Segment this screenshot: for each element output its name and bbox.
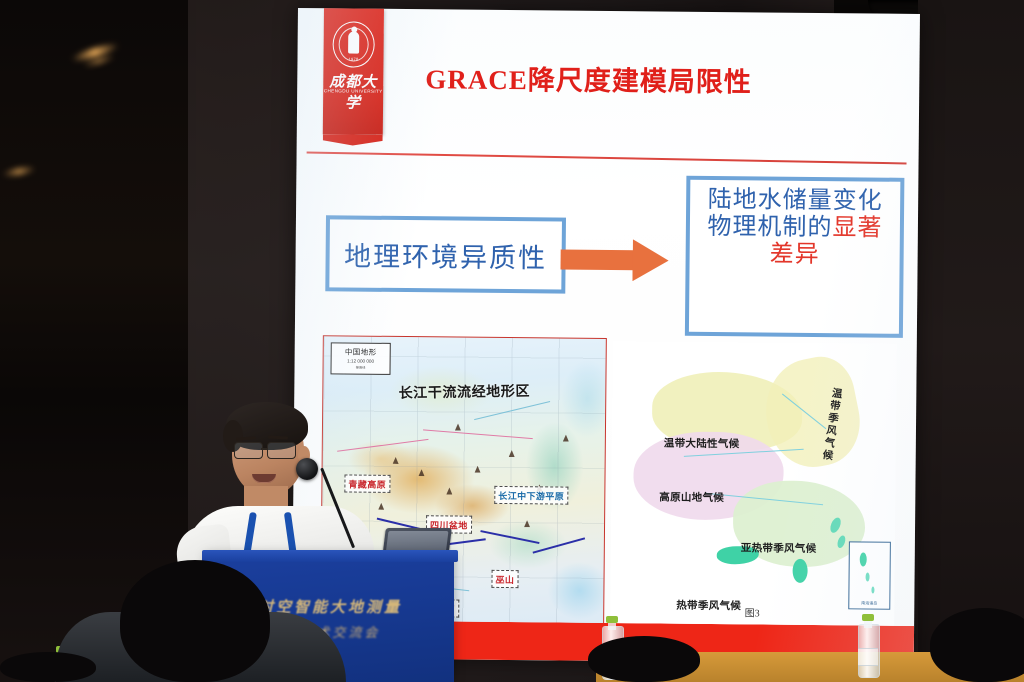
concept-right-line3: 差异 [690, 241, 900, 270]
terrain-map-title: 长江干流流经地形区 [398, 381, 530, 403]
concept-box-left-label: 地理环境异质性 [329, 219, 562, 289]
climate-map-china: 温带大陆性气候 高原山地气候 亚热带季风气候 热带季风气候 温带季风气候 南海诸… [610, 341, 897, 636]
presentation-photo: 1978 成都大学 CHENGDU UNIVERSITY GRACE降尺度建模局… [0, 0, 1024, 682]
flow-arrow-icon [560, 239, 668, 282]
map-legend-title: 中国地形 [332, 346, 390, 358]
concept-right-line2: 物理机制的显著 [690, 214, 900, 243]
south-china-sea-inset: 南海诸岛 [848, 541, 891, 609]
concept-box-right: 陆地水储量变化 物理机制的显著 差异 [685, 176, 905, 338]
concept-box-left: 地理环境异质性 [325, 215, 566, 293]
terrain-label-yangtze-plain: 长江中下游平原 [494, 486, 568, 505]
university-logo-ribbon: 1978 成都大学 CHENGDU UNIVERSITY [323, 8, 384, 135]
climate-label-subtropical-monsoon: 亚热带季风气候 [741, 540, 817, 556]
eyeglasses-icon [234, 442, 300, 458]
china-outline-group [624, 347, 878, 593]
title-divider [307, 151, 907, 164]
map-legend: 中国地形 1:12 000 000 等高线 [330, 342, 390, 375]
slide-title: GRACE降尺度建模局限性 [425, 57, 895, 101]
water-bottle [858, 614, 878, 676]
podium-top-edge [202, 550, 458, 562]
audience-head [588, 636, 700, 682]
climate-label-plateau-mountain: 高原山地气候 [659, 489, 724, 505]
audience-head [930, 608, 1024, 682]
audience-head [0, 652, 96, 682]
concept-right-line2-blue: 物理机制的 [707, 214, 832, 241]
terrain-label-wushan: 巫山 [491, 570, 518, 588]
seal-figure-icon [348, 31, 359, 53]
audience-head [120, 560, 270, 682]
university-seal-icon: 1978 [332, 21, 374, 67]
university-name-en: CHENGDU UNIVERSITY [322, 88, 385, 94]
microphone-icon [296, 458, 318, 480]
figure-caption: 图3 [610, 603, 894, 621]
concept-right-line2-red: 显著 [832, 215, 882, 241]
wall-panel-right [918, 0, 1024, 682]
climate-label-temperate-continental: 温带大陆性气候 [664, 436, 740, 452]
map-legend-sub: 等高线 [332, 364, 390, 370]
zone-tropical-monsoon [793, 559, 808, 583]
concept-right-line1: 陆地水储量变化 [690, 187, 900, 216]
seal-year: 1978 [348, 56, 358, 61]
map-legend-scale: 1:12 000 000 [332, 358, 390, 364]
